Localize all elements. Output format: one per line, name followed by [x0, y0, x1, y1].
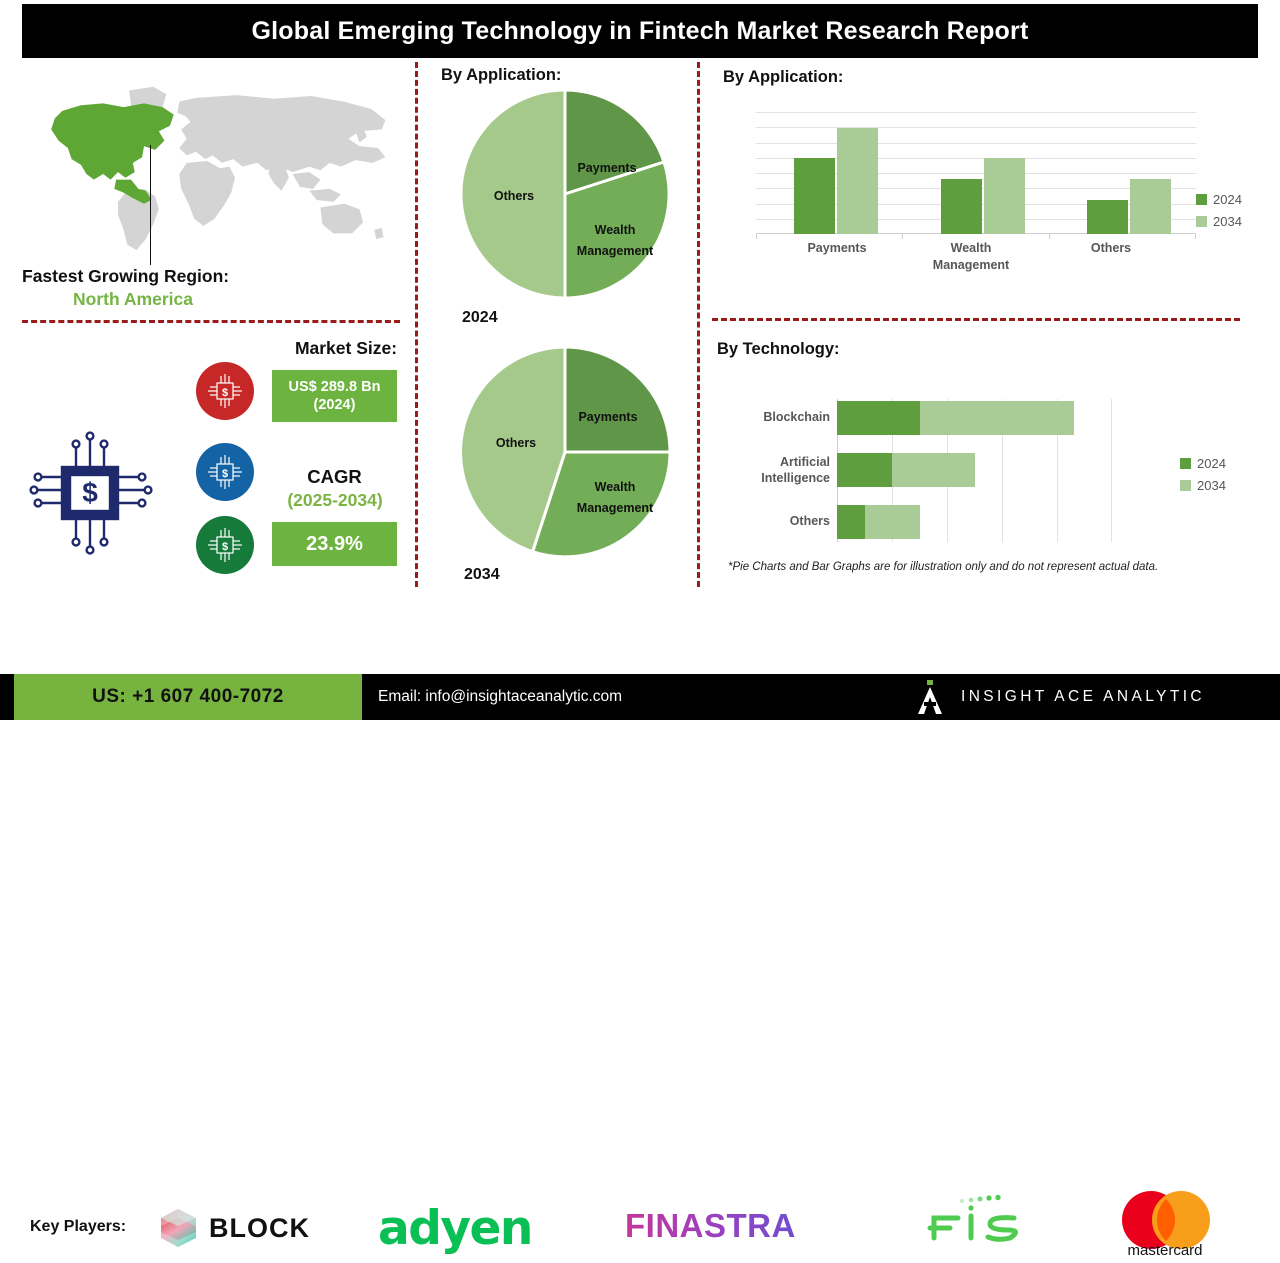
logo-mastercard-text: mastercard [1108, 1242, 1222, 1259]
chart-disclaimer: *Pie Charts and Bar Graphs are for illus… [728, 561, 1158, 573]
legend-label-2024: 2024 [1213, 192, 1242, 207]
horizontal-bar-chart [837, 399, 1112, 542]
pie-2024-label-others: Others [494, 189, 534, 203]
page-title: Global Emerging Technology in Fintech Ma… [252, 17, 1029, 46]
vbar-legend: 2024 2034 [1196, 192, 1242, 229]
horizontal-divider-left [22, 320, 400, 323]
footer-email[interactable]: Email: info@insightaceanalytic.com [378, 674, 622, 720]
svg-text:$: $ [222, 541, 228, 553]
vertical-bar-chart [756, 112, 1196, 234]
block-logo-icon [155, 1206, 201, 1250]
logo-finastra: FINASTRA [625, 1207, 796, 1245]
legend-item-2024-tech: 2024 [1180, 456, 1226, 471]
hbar-legend: 2024 2034 [1180, 456, 1226, 493]
pie-2034-label-wealth: Wealth [595, 480, 636, 494]
hbar-ai-2034 [892, 453, 975, 487]
vbar-cat-others: Others [1056, 240, 1166, 257]
coin-chip-red-icon: $ [196, 362, 254, 420]
fastest-growing-region-block: Fastest Growing Region: North America [22, 266, 412, 311]
hbar-cat-ai: Artificial Intelligence [710, 454, 830, 487]
hbar-cat-blockchain: Blockchain [710, 409, 830, 425]
cagr-period: (2025-2034) [268, 490, 402, 511]
horizontal-divider-right [712, 318, 1240, 321]
vbar-wealth-2034 [984, 158, 1025, 234]
infographic-page: Global Emerging Technology in Fintech Ma… [0, 0, 1280, 720]
vbar-others-2024 [1087, 200, 1128, 234]
footer-brand-text: INSIGHT ACE ANALYTIC [961, 688, 1205, 706]
vbar-payments-2034 [837, 128, 878, 234]
svg-text:Management: Management [577, 244, 654, 258]
hbar-ai-2024 [837, 453, 892, 487]
vertical-divider-right [697, 62, 700, 587]
legend-label-2034-tech: 2034 [1197, 478, 1226, 493]
hbar-section-title: By Technology: [717, 340, 840, 359]
world-map-icon [14, 70, 404, 265]
vbar-category-labels: Payments Wealth Management Others [756, 240, 1196, 284]
hbar-row-blockchain [837, 401, 1074, 435]
vbar-group-others [1087, 179, 1171, 234]
vbar-cat-payments: Payments [772, 240, 902, 257]
hbar-others-2024 [837, 505, 865, 539]
legend-label-2034: 2034 [1213, 214, 1242, 229]
legend-label-2024-tech: 2024 [1197, 456, 1226, 471]
legend-swatch-2034 [1196, 216, 1207, 227]
market-size-year: (2024) [314, 396, 356, 414]
pie-chart-2024: Payments Wealth Management Others [452, 88, 678, 300]
pie-2034-year: 2034 [464, 566, 500, 584]
legend-item-2034-tech: 2034 [1180, 478, 1226, 493]
legend-item-2024: 2024 [1196, 192, 1242, 207]
hbar-others-2034 [865, 505, 920, 539]
key-players-strip: Key Players: BLOCK adye [0, 592, 1280, 674]
pie-2034-label-others: Others [496, 436, 536, 450]
vbar-group-payments [794, 128, 878, 234]
vbar-payments-2024 [794, 158, 835, 234]
hbar-blockchain-2034 [920, 401, 1074, 435]
market-size-value-box: US$ 289.8 Bn (2024) [272, 370, 397, 422]
vertical-divider-left [415, 62, 418, 587]
logo-fis [918, 1192, 1028, 1252]
pie-chart-2034: Payments Wealth Management Others [450, 345, 680, 560]
hbar-row-others [837, 505, 920, 539]
legend-swatch-2034-tech [1180, 480, 1191, 491]
map-pointer-line [150, 145, 151, 265]
report-header: Global Emerging Technology in Fintech Ma… [22, 4, 1258, 58]
vbar-wealth-2024 [941, 179, 982, 234]
cagr-label: CAGR [272, 466, 397, 488]
svg-text:Management: Management [577, 501, 654, 515]
market-size-value: US$ 289.8 Bn [289, 378, 381, 396]
footer-brand: INSIGHT ACE ANALYTIC [915, 674, 1205, 720]
chip-dollar-icon: $ [18, 420, 168, 565]
pie-section-title: By Application: [441, 66, 561, 85]
footer-phone[interactable]: US: +1 607 400-7072 [14, 674, 362, 720]
vbar-cat-wealth: Wealth Management [916, 240, 1026, 274]
coin-chip-blue-icon: $ [196, 443, 254, 501]
fastest-growing-region-label: Fastest Growing Region: [22, 266, 412, 288]
hbar-category-labels: Blockchain Artificial Intelligence Other… [710, 399, 830, 542]
fis-logo-icon [918, 1192, 1028, 1252]
pie-2034-label-payments: Payments [578, 410, 637, 424]
logo-block: BLOCK [155, 1206, 310, 1250]
cagr-value-box: 23.9% [272, 522, 397, 566]
insight-ace-logo-icon [915, 680, 945, 714]
vbar-others-2034 [1130, 179, 1171, 234]
vbar-section-title: By Application: [723, 68, 843, 87]
market-size-label: Market Size: [276, 338, 416, 359]
fastest-growing-region-value: North America [22, 288, 244, 311]
pie-2024-label-payments: Payments [577, 161, 636, 175]
legend-swatch-2024-tech [1180, 458, 1191, 469]
svg-text:$: $ [222, 468, 228, 480]
vbar-group-wealth [941, 158, 1025, 234]
coin-chip-green-icon: $ [196, 516, 254, 574]
svg-text:$: $ [82, 477, 98, 508]
hbar-blockchain-2024 [837, 401, 920, 435]
svg-text:$: $ [222, 387, 228, 399]
pie-2024-year: 2024 [462, 309, 498, 327]
logo-block-text: BLOCK [209, 1213, 310, 1244]
legend-swatch-2024 [1196, 194, 1207, 205]
legend-item-2034: 2034 [1196, 214, 1242, 229]
hbar-cat-others: Others [710, 513, 830, 529]
cagr-value: 23.9% [306, 533, 363, 556]
logo-adyen: adyen [378, 1201, 532, 1256]
pie-2024-label-wealth: Wealth [595, 223, 636, 237]
hbar-row-ai [837, 453, 975, 487]
key-players-label: Key Players: [30, 1218, 126, 1236]
